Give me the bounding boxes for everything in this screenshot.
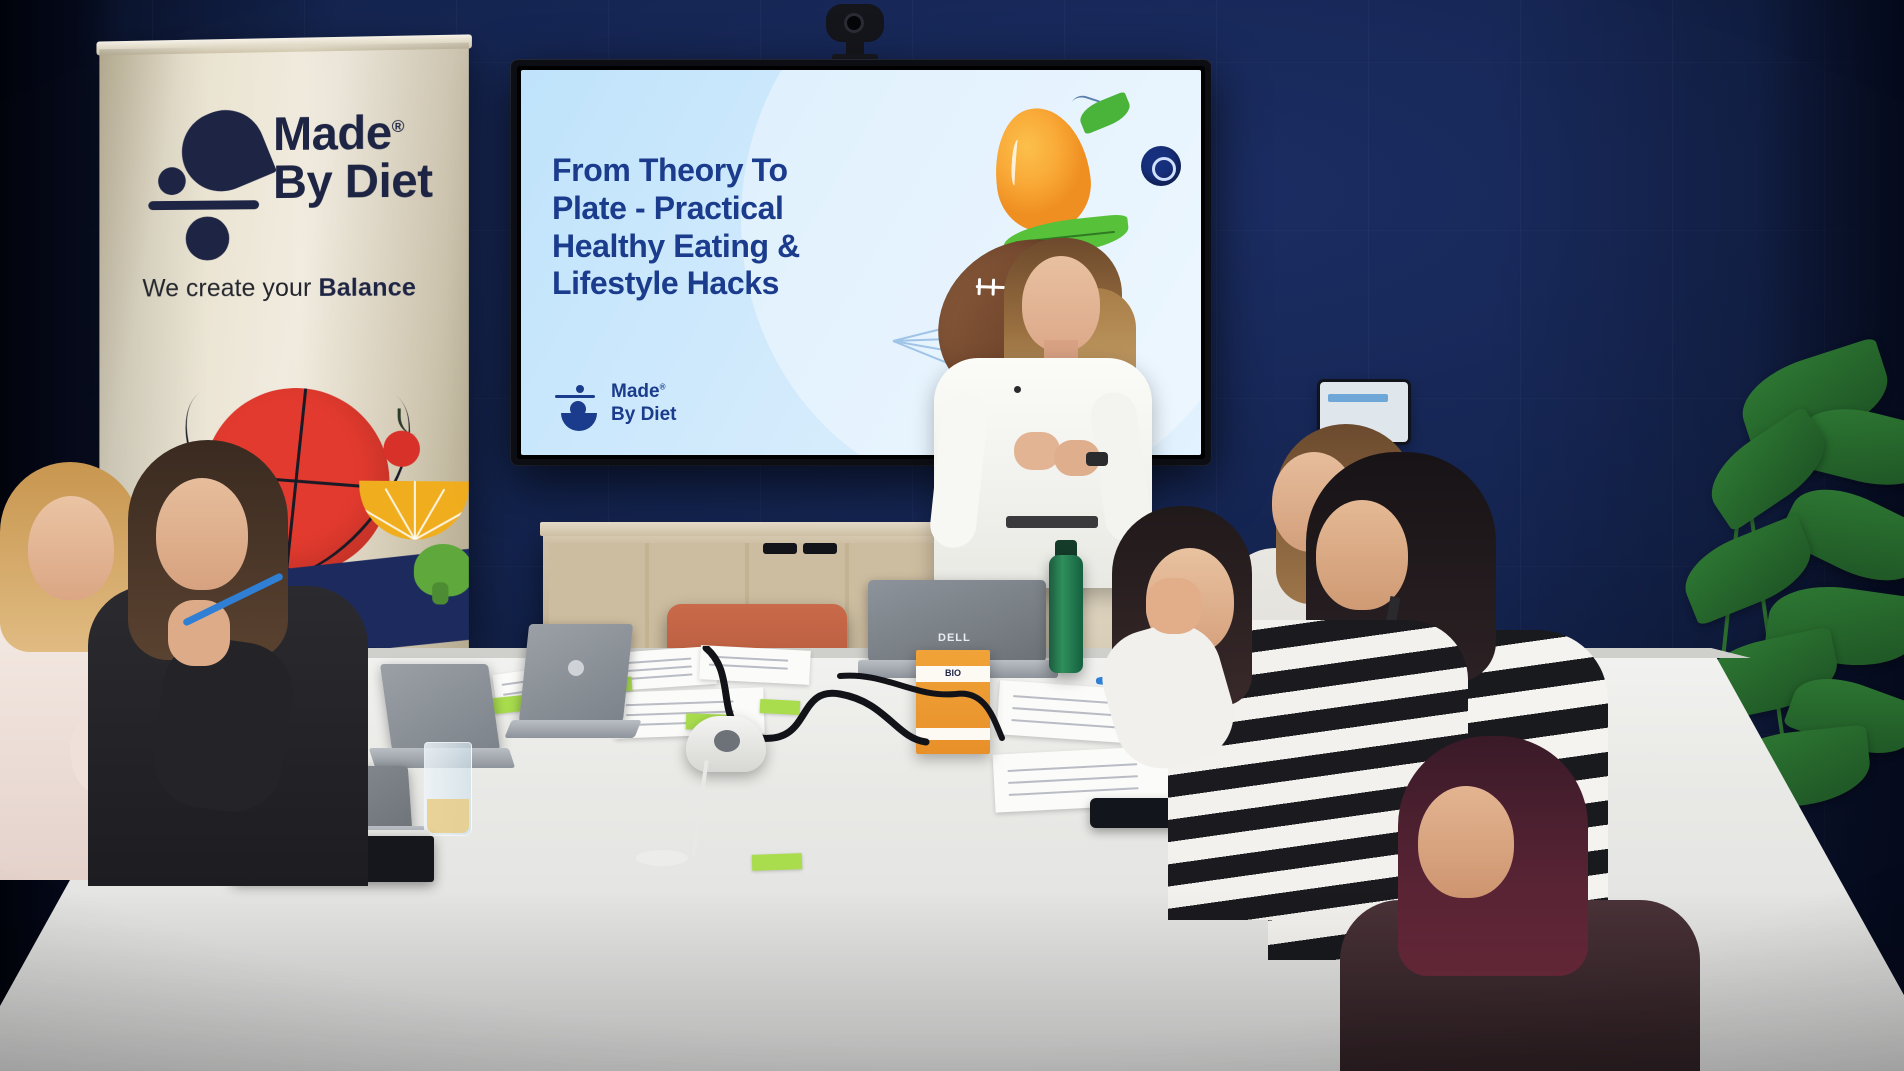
presenter-belt [1006, 516, 1098, 528]
drinking-glass[interactable] [424, 742, 472, 836]
green-water-bottle[interactable] [1049, 555, 1083, 673]
laptop-brand-badge: DELL [938, 632, 971, 644]
attendee-foreground-right-head [1418, 786, 1514, 898]
attendee-front-left-head [28, 496, 114, 600]
broccoli-graphic [414, 544, 469, 597]
slide-logo: Made® By Diet [555, 381, 755, 433]
slide-title-line-3: Healthy Eating & [552, 228, 852, 266]
presenter-left-hand [1014, 432, 1060, 470]
attendee-right-striped-hand [1146, 578, 1202, 634]
presenter-head [1022, 256, 1100, 352]
slide-title-line-2: Plate - Practical [552, 190, 852, 228]
lemon-slice-graphic [359, 481, 469, 541]
camera-lens-icon [844, 13, 864, 33]
slide-title: From Theory To Plate - Practical Healthy… [552, 152, 852, 303]
slide-logo-line2: By Diet [611, 403, 676, 426]
presenter-watch [1086, 452, 1108, 466]
presenter-lapel-microphone [1014, 386, 1021, 393]
attendee-right-front-head [1316, 500, 1408, 610]
slide-registered-mark: ® [660, 383, 666, 392]
remote-right[interactable] [803, 543, 837, 554]
slide-title-line-4: Lifestyle Hacks [552, 265, 852, 303]
remote-left[interactable] [763, 543, 797, 554]
bowl-logo-mark [555, 383, 599, 429]
tagline-bold: Balance [319, 273, 416, 301]
attendee-left-head [156, 478, 248, 590]
slide-logo-text: Made® By Diet [611, 380, 676, 426]
banner-logo-line1: Made [273, 105, 392, 160]
black-cable [836, 668, 1006, 748]
photo-scene: Made® By Diet We create your Balance [0, 0, 1904, 1071]
video-conference-camera [824, 4, 886, 68]
banner-logo: Made® By Diet [146, 106, 438, 239]
blueberry-graphic [1141, 146, 1181, 186]
banner-tagline: We create your Balance [142, 273, 442, 303]
division-bowl-logo-mark [146, 108, 263, 233]
slide-title-line-1: From Theory To [552, 152, 852, 190]
cherry-graphic [383, 431, 419, 467]
banner-logo-text: Made® By Diet [273, 108, 433, 206]
tagline-prefix: We create your [142, 274, 318, 303]
laptop[interactable] [508, 624, 628, 754]
microphone-base [636, 850, 688, 866]
attendee-left-hand [168, 600, 230, 666]
banner-logo-line2: By Diet [273, 156, 433, 206]
registered-mark: ® [392, 117, 404, 136]
slide-logo-line1: Made [611, 381, 660, 402]
